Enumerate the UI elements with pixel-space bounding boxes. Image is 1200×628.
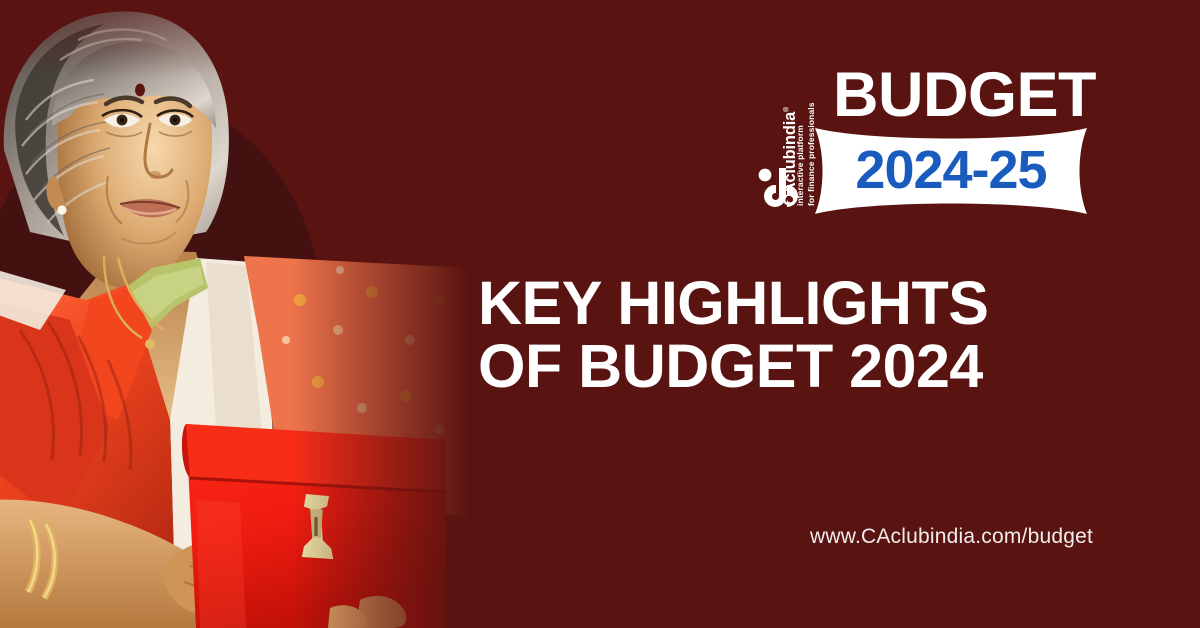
portrait-illustration: [0, 0, 470, 628]
headline-line-1: KEY HIGHLIGHTS: [478, 272, 1118, 335]
year-label: 2024-25: [815, 128, 1087, 214]
page-title: KEY HIGHLIGHTS OF BUDGET 2024: [478, 272, 1118, 398]
caclubindia-logo[interactable]: CAclubindia® interactive platform for fi…: [757, 58, 815, 220]
finance-minister-photo: [0, 0, 470, 628]
budget-wordmark: BUDGET: [833, 60, 1089, 130]
headline-line-2: OF BUDGET 2024: [478, 335, 1118, 398]
registered-mark: ®: [784, 107, 791, 112]
budget-banner: CAclubindia® interactive platform for fi…: [0, 0, 1200, 628]
caclubindia-monogram-icon: [756, 166, 806, 220]
website-url[interactable]: www.CAclubindia.com/budget: [810, 525, 1093, 549]
year-ribbon: 2024-25: [815, 128, 1087, 214]
